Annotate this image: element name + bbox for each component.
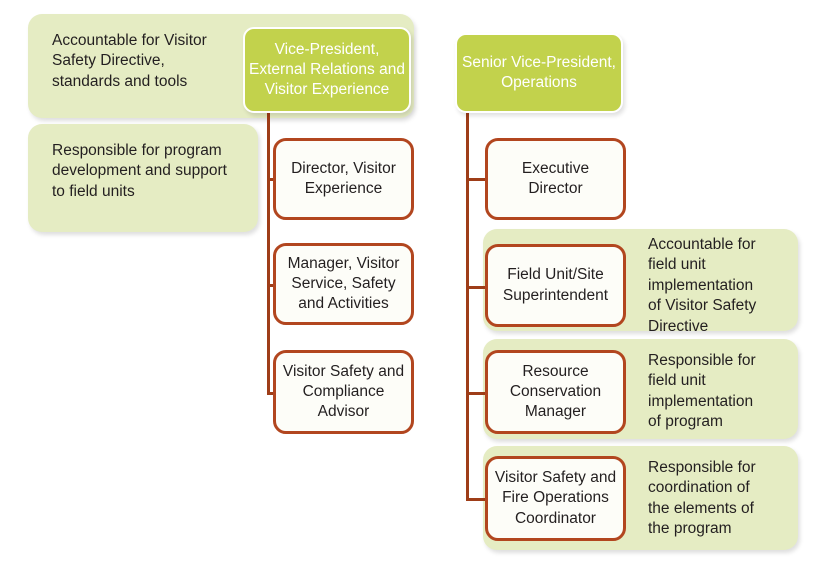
note-text-right-3: Responsible for coordination of the elem…: [648, 458, 798, 540]
role-box-manager-visitor-service[interactable]: Manager, Visitor Service, Safety and Act…: [273, 243, 414, 325]
note-text-right-2: Responsible for field unit implementatio…: [648, 351, 798, 433]
role-box-field-unit-site-superintendent[interactable]: Field Unit/Site Superintendent: [485, 244, 626, 327]
note-text-left-1: Accountable for Visitor Safety Directive…: [52, 31, 252, 92]
role-box-executive-director[interactable]: Executive Director: [485, 138, 626, 220]
connector-branch-right-3: [466, 392, 486, 395]
role-box-visitor-safety-compliance-advisor[interactable]: Visitor Safety and Compliance Advisor: [273, 350, 414, 434]
note-text-left-2: Responsible for program development and …: [52, 141, 257, 202]
connector-trunk-left: [267, 110, 270, 395]
role-box-resource-conservation-manager[interactable]: Resource Conservation Manager: [485, 350, 626, 434]
connector-branch-right-4: [466, 498, 486, 501]
leader-box-vice-president[interactable]: Vice-President, External Relations and V…: [243, 27, 411, 113]
connector-branch-right-1: [466, 178, 486, 181]
connector-branch-right-2: [466, 286, 486, 289]
note-text-right-1: Accountable for field unit implementatio…: [648, 235, 798, 337]
leader-box-senior-vice-president[interactable]: Senior Vice-President, Operations: [455, 33, 623, 113]
role-box-director-visitor-experience[interactable]: Director, Visitor Experience: [273, 138, 414, 220]
role-box-visitor-safety-fire-operations-coordinator[interactable]: Visitor Safety and Fire Operations Coord…: [485, 456, 626, 541]
connector-trunk-right: [466, 110, 469, 501]
org-chart-canvas: Accountable for Visitor Safety Directive…: [0, 0, 826, 577]
